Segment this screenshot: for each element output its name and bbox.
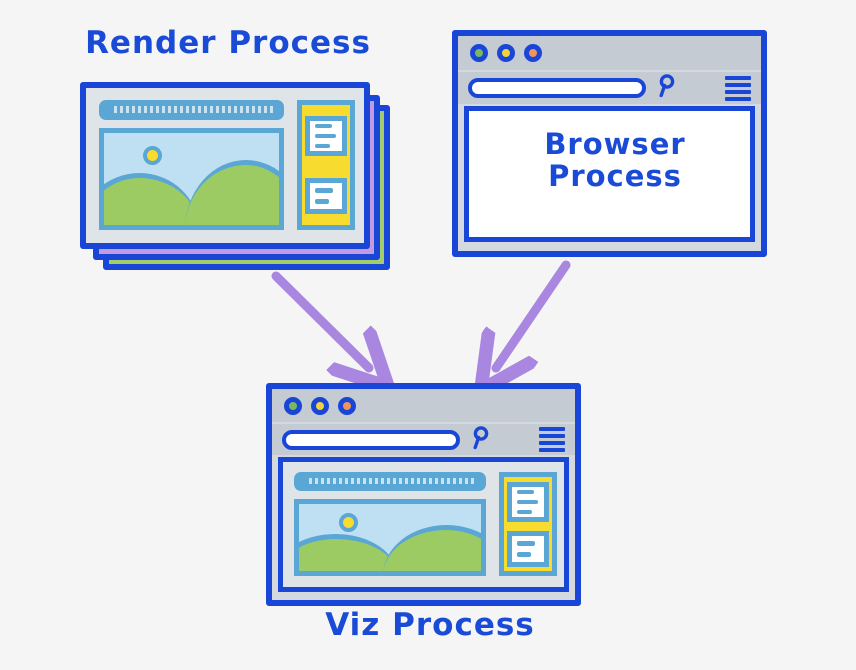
card-line xyxy=(517,510,531,514)
viz-page xyxy=(283,462,564,587)
page-sidebar xyxy=(499,472,557,576)
card-line xyxy=(517,552,530,557)
diagram-canvas: Render Process xyxy=(0,0,856,670)
search-pin-icon[interactable] xyxy=(470,426,490,454)
card-line xyxy=(517,500,537,504)
viz-toolbar xyxy=(272,424,575,455)
address-bar-input[interactable] xyxy=(282,430,460,450)
card-line xyxy=(517,541,535,546)
hill-left xyxy=(294,534,397,576)
hero-image xyxy=(294,499,486,576)
dot-yellow-icon[interactable] xyxy=(311,397,329,415)
sidebar-card-2 xyxy=(507,531,549,567)
dot-green-icon[interactable] xyxy=(284,397,302,415)
card-line xyxy=(517,490,534,494)
page-header-bar xyxy=(294,472,486,491)
viz-process-window[interactable] xyxy=(266,383,581,606)
sun-icon xyxy=(339,513,358,532)
viz-viewport xyxy=(278,457,569,592)
scribble-text xyxy=(309,478,474,484)
dot-orange-icon[interactable] xyxy=(338,397,356,415)
viz-process-label: Viz Process xyxy=(290,608,570,643)
sidebar-card-1 xyxy=(507,482,549,522)
hamburger-menu-icon[interactable] xyxy=(539,427,565,452)
hill-right xyxy=(383,525,486,576)
viz-titlebar xyxy=(272,389,575,422)
viz-page-main xyxy=(290,469,492,580)
